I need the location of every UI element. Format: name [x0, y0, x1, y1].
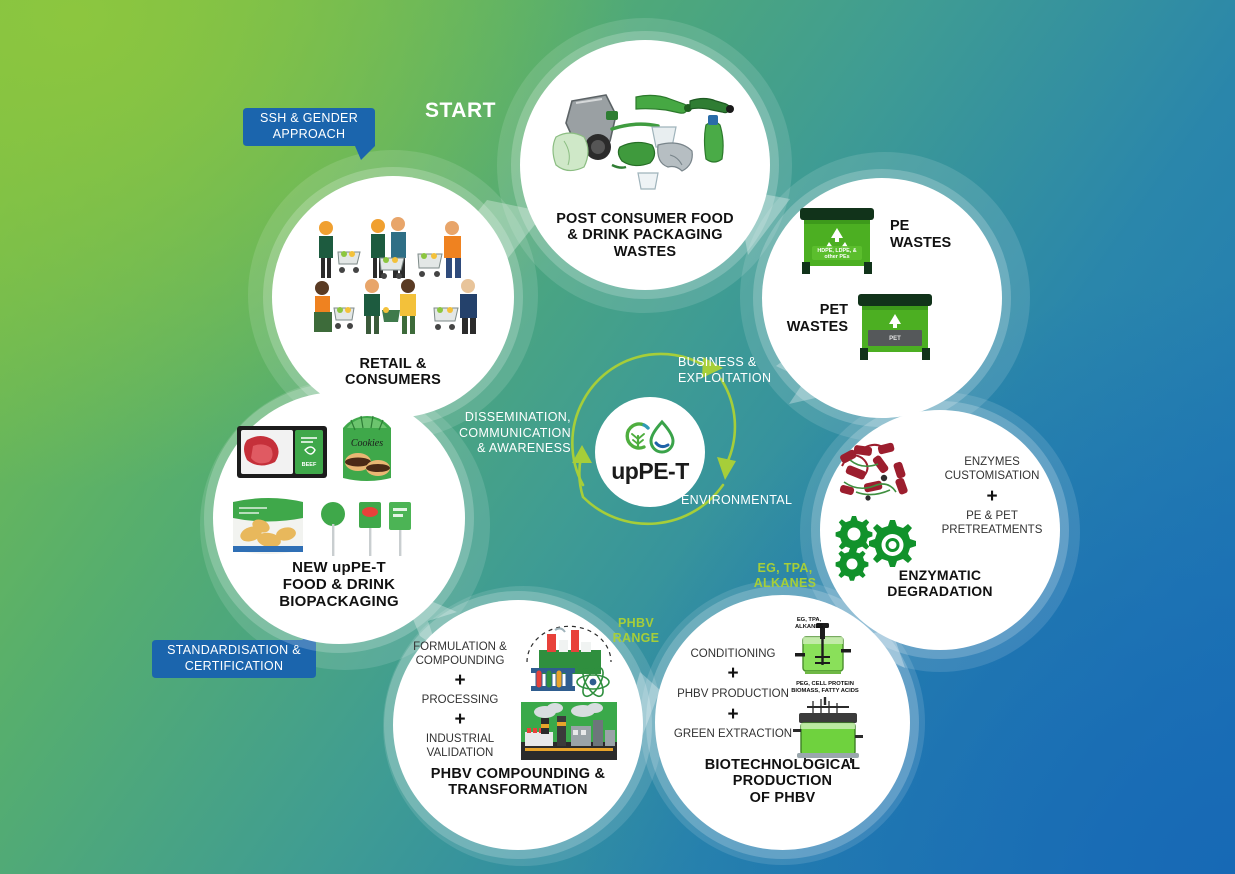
pet-label-line1: PET — [768, 302, 848, 319]
conn-phbv-line1: PHBV — [600, 616, 672, 631]
node-new-biopackaging[interactable]: BEEF Cookies — [213, 392, 465, 644]
phbv-step-1b: COMPOUNDING — [401, 654, 519, 668]
bio-title-1: BIOTECHNOLOGICAL — [655, 757, 910, 773]
conn-phbv-line2: RANGE — [600, 631, 672, 646]
banner-std-line1: STANDARDISATION & — [167, 643, 301, 659]
reactor-top-label-1: EG, TPA, — [783, 617, 835, 624]
enz-sub-4: PRETREATMENTS — [936, 524, 1048, 538]
bio-step-3: GREEN EXTRACTION — [671, 727, 795, 741]
enz-sub-3: PE & PET — [936, 510, 1048, 524]
connector-label-eg-tpa-alkanes: EG, TPA, ALKANES — [740, 561, 830, 592]
orbit-business-line2: EXPLOITATION — [678, 371, 771, 387]
node-post-consumer-waste[interactable]: POST CONSUMER FOOD & DRINK PACKAGING WAS… — [520, 40, 770, 290]
frozen-food-bag-icon — [229, 496, 307, 558]
node-retail-title-1: RETAIL & — [345, 356, 441, 372]
pe-recycling-bin-icon: HDPE, LDPE, & other PEs — [796, 204, 882, 282]
phbv-step-3a: INDUSTRIAL — [401, 732, 519, 746]
conn-eg-line2: ALKANES — [740, 576, 830, 591]
phbv-step-3b: VALIDATION — [401, 746, 519, 760]
enz-sub-2: CUSTOMISATION — [936, 470, 1048, 484]
start-label: START — [425, 99, 496, 123]
pe-label-line1: PE — [890, 218, 951, 235]
pet-recycling-bin-icon: PET — [854, 290, 940, 368]
phbv-plus-2: + — [401, 708, 519, 731]
banner-std-line2: CERTIFICATION — [185, 659, 284, 675]
bio-title-3: OF PHBV — [655, 790, 910, 806]
enz-plus: + — [936, 486, 1048, 509]
node-pe-pet-wastes[interactable]: HDPE, LDPE, & other PEs PE WASTES PET — [762, 178, 1002, 418]
bio-step-1: CONDITIONING — [671, 647, 795, 661]
factory-illustration-icon — [521, 702, 617, 760]
biopack-title-2: FOOD & DRINK — [213, 577, 465, 594]
node-pcw-title-3: WASTES — [556, 244, 734, 260]
orbit-label-dissemination: DISSEMINATION, COMMUNICATION & AWARENESS — [441, 410, 571, 457]
orbit-environmental-line1: ENVIRONMENTAL — [681, 493, 792, 509]
pe-bin-text-line2: other PEs — [824, 254, 849, 260]
leaf-droplet-logo-icon — [622, 419, 678, 457]
phbv-title-2: TRANSFORMATION — [393, 782, 643, 798]
meat-tray-package-icon: BEEF — [237, 422, 327, 482]
cookies-pack-label: Cookies — [351, 438, 383, 449]
pe-label-line2: WASTES — [890, 235, 951, 252]
cookies-bag-package-icon: Cookies — [333, 414, 401, 486]
enz-title-1: ENZYMATIC — [820, 568, 1060, 584]
phbv-title-1: PHBV COMPOUNDING & — [393, 766, 643, 782]
hub-logo-text: upPE-T — [611, 458, 689, 485]
node-pcw-title-1: POST CONSUMER FOOD — [556, 211, 734, 227]
orbit-label-environmental: ENVIRONMENTAL — [681, 493, 792, 509]
bio-title-2: PRODUCTION — [655, 773, 910, 789]
fermenter-top-icon — [789, 623, 863, 679]
biopack-title-1: NEW upPE-T — [213, 560, 465, 577]
infographic-canvas: START SSH & GENDER APPROACH STANDARDISAT… — [0, 0, 1235, 874]
node-pcw-title-2: & DRINK PACKAGING — [556, 227, 734, 243]
node-retail-title-2: CONSUMERS — [345, 372, 441, 388]
meat-pack-label: BEEF — [302, 462, 317, 468]
phbv-step-2: PROCESSING — [401, 693, 519, 707]
node-retail-consumers[interactable]: RETAIL & CONSUMERS — [272, 176, 514, 418]
orbit-diss-line1: DISSEMINATION, — [441, 410, 571, 426]
center-hub[interactable]: upPE-T — [595, 397, 705, 507]
banner-ssh-line2: APPROACH — [273, 127, 346, 143]
plastic-waste-illustration-icon — [550, 85, 740, 195]
protein-ribbon-icon — [834, 438, 924, 512]
orbit-diss-line2: COMMUNICATION — [441, 426, 571, 442]
orbit-business-line1: BUSINESS & — [678, 355, 771, 371]
shoppers-illustration-icon — [300, 218, 486, 336]
orbit-diss-line3: & AWARENESS — [441, 441, 571, 457]
enz-sub-1: ENZYMES — [936, 456, 1048, 470]
lollipops-package-icon — [319, 500, 417, 560]
pet-label-line2: WASTES — [768, 319, 848, 336]
banner-ssh-gender: SSH & GENDER APPROACH — [243, 108, 383, 166]
node-biotech-production[interactable]: EG, TPA, ALKANES PEG, CELL PROTEIN BIOMA… — [655, 595, 910, 850]
phbv-plus-1: + — [401, 669, 519, 692]
bio-plus-1: + — [671, 662, 795, 686]
bioreactor-icon — [787, 697, 869, 763]
biopack-title-3: BIOPACKAGING — [213, 594, 465, 611]
bio-step-2: PHBV PRODUCTION — [671, 687, 795, 701]
conn-eg-line1: EG, TPA, — [740, 561, 830, 576]
connector-label-phbv-range: PHBV RANGE — [600, 616, 672, 647]
bio-plus-2: + — [671, 703, 795, 727]
orbit-label-business: BUSINESS & EXPLOITATION — [678, 355, 771, 386]
reactor-top-label-2: ALKANES — [783, 624, 835, 631]
banner-ssh-line1: SSH & GENDER — [260, 111, 358, 127]
pet-bin-text: PET — [889, 336, 901, 342]
